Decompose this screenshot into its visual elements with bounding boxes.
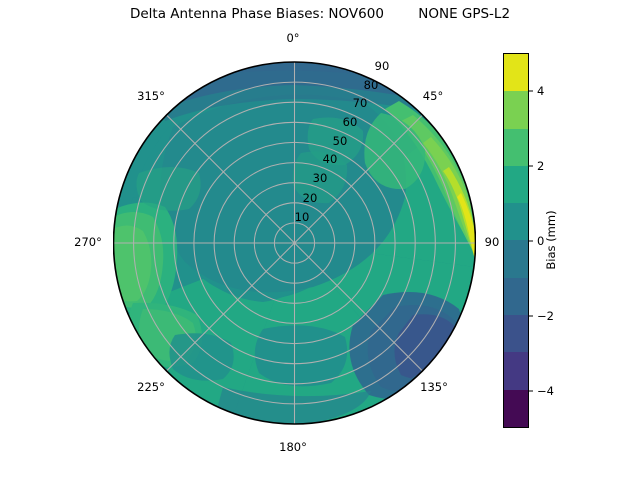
page-title: Delta Antenna Phase Biases: NOV600 NONE … [0,6,640,22]
theta-tick-label-45[interactable]: 45° [423,89,443,103]
colorbar-tick-4 [529,90,533,91]
colorbar-band-6 [504,166,528,203]
colorbar-tick-label-neg2: −2 [537,309,554,323]
colorbar-band-8 [504,91,528,128]
colorbar-tick-0 [529,240,533,241]
colorbar-band-5 [504,203,528,240]
colorbar-tick-2 [529,165,533,166]
theta-tick-label-315[interactable]: 315° [137,89,165,103]
colorbar-gradient-strip [503,53,529,428]
theta-tick-label-225[interactable]: 225° [137,380,165,394]
colorbar-tick-label-2: 2 [537,159,544,173]
colorbar-band-3 [504,278,528,315]
theta-tick-label-180[interactable]: 180° [279,440,307,454]
colorbar-band-9 [504,54,528,91]
colorbar-band-1 [504,352,528,389]
colorbar-tick-neg4 [529,390,533,391]
theta-tick-label-90[interactable]: 90 [485,235,500,249]
colorbar-band-4 [504,240,528,277]
polar-chart-axes[interactable]: 10 20 30 40 50 60 70 80 90 [113,57,476,429]
colorbar-tick-neg2 [529,315,533,316]
theta-tick-label-0[interactable]: 0° [286,31,299,45]
colorbar-band-0 [504,390,528,427]
polar-grid-spokes [114,62,476,424]
colorbar-tick-label-4: 4 [537,84,544,98]
colorbar-band-7 [504,129,528,166]
colorbar[interactable]: 4 2 0 −2 −4 [503,53,529,428]
colorbar-tick-label-neg4: −4 [537,384,554,398]
colorbar-band-2 [504,315,528,352]
polar-field-plot [113,57,476,429]
theta-tick-label-270[interactable]: 270° [74,235,102,249]
colorbar-axis-label: Bias (mm) [544,210,558,269]
theta-tick-label-135[interactable]: 135° [420,380,448,394]
